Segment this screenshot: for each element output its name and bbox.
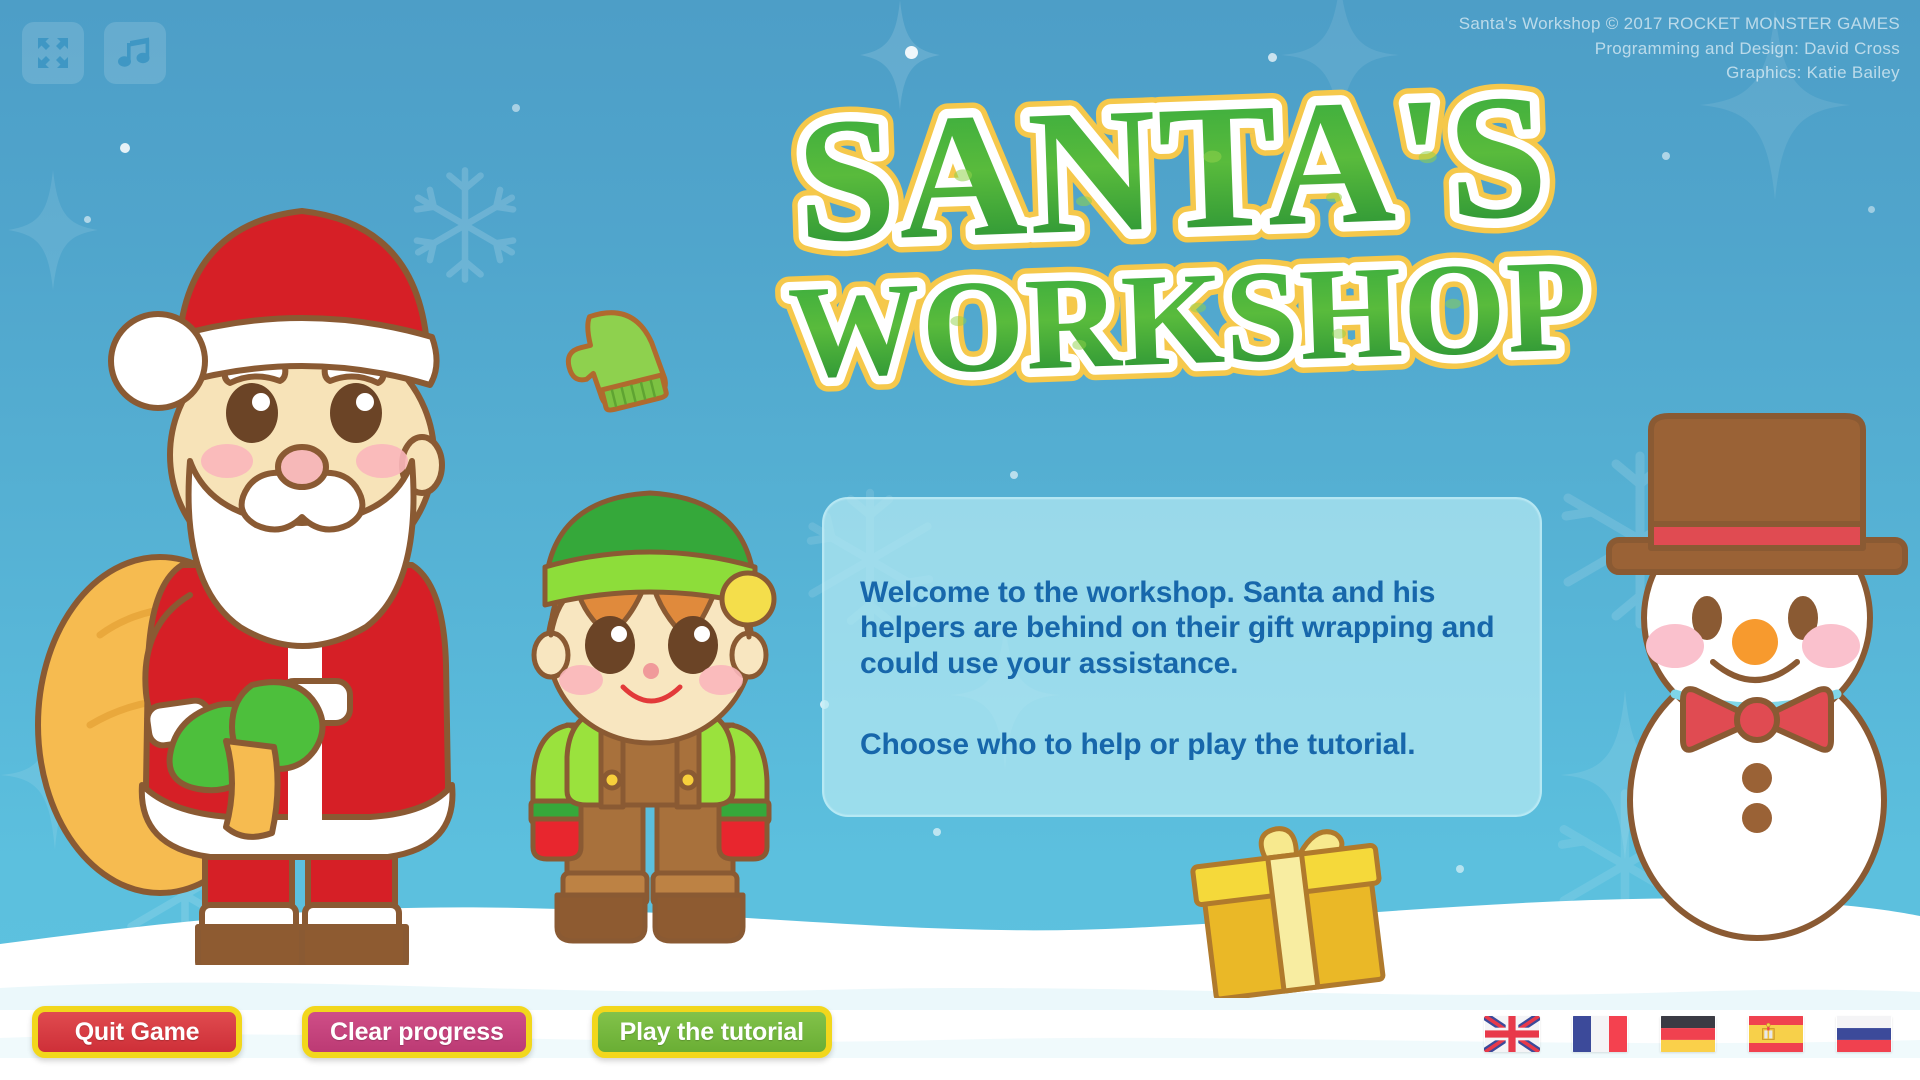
credits: Santa's Workshop © 2017 ROCKET MONSTER G… [1459,12,1900,86]
flag-russian[interactable] [1836,1016,1892,1052]
flag-english[interactable] [1484,1016,1540,1052]
quit-game-button[interactable]: Quit Game [32,1006,242,1058]
gold-gift-box-icon [1178,818,1398,998]
welcome-paragraph-2: Choose who to help or play the tutorial. [860,727,1500,762]
welcome-panel: Welcome to the workshop. Santa and his h… [822,497,1542,817]
welcome-text: Welcome to the workshop. Santa and his h… [860,575,1500,763]
welcome-paragraph-1: Welcome to the workshop. Santa and his h… [860,575,1500,681]
santa-character[interactable] [30,165,500,965]
elf-character[interactable] [505,475,795,965]
flag-german[interactable] [1660,1016,1716,1052]
quit-game-label: Quit Game [75,1018,200,1047]
main-menu-buttons: Quit Game Clear progress Play the tutori… [32,1006,832,1058]
svg-text:WORKSHOP: WORKSHOP [786,231,1591,406]
fullscreen-icon [36,36,70,70]
toolbar [22,22,166,84]
flag-spanish[interactable] [1748,1016,1804,1052]
credits-line-graphics: Graphics: Katie Bailey [1459,61,1900,86]
credits-line-programming: Programming and Design: David Cross [1459,37,1900,62]
credits-line-copyright: Santa's Workshop © 2017 ROCKET MONSTER G… [1459,12,1900,37]
language-selector [1484,1016,1892,1052]
play-tutorial-button[interactable]: Play the tutorial [592,1006,832,1058]
game-stage: Santa's Workshop © 2017 ROCKET MONSTER G… [0,0,1920,1080]
music-toggle-button[interactable] [104,22,166,84]
game-title-logo: SANTA'S SANTA'S SANTA'S WORKSHOP WORKSHO… [720,78,1640,408]
green-mitten-icon [562,292,682,420]
music-note-icon [118,36,152,70]
fullscreen-button[interactable] [22,22,84,84]
clear-progress-label: Clear progress [330,1018,504,1047]
clear-progress-button[interactable]: Clear progress [302,1006,532,1058]
snowman-character[interactable] [1585,400,1920,970]
flag-french[interactable] [1572,1016,1628,1052]
play-tutorial-label: Play the tutorial [620,1018,804,1047]
